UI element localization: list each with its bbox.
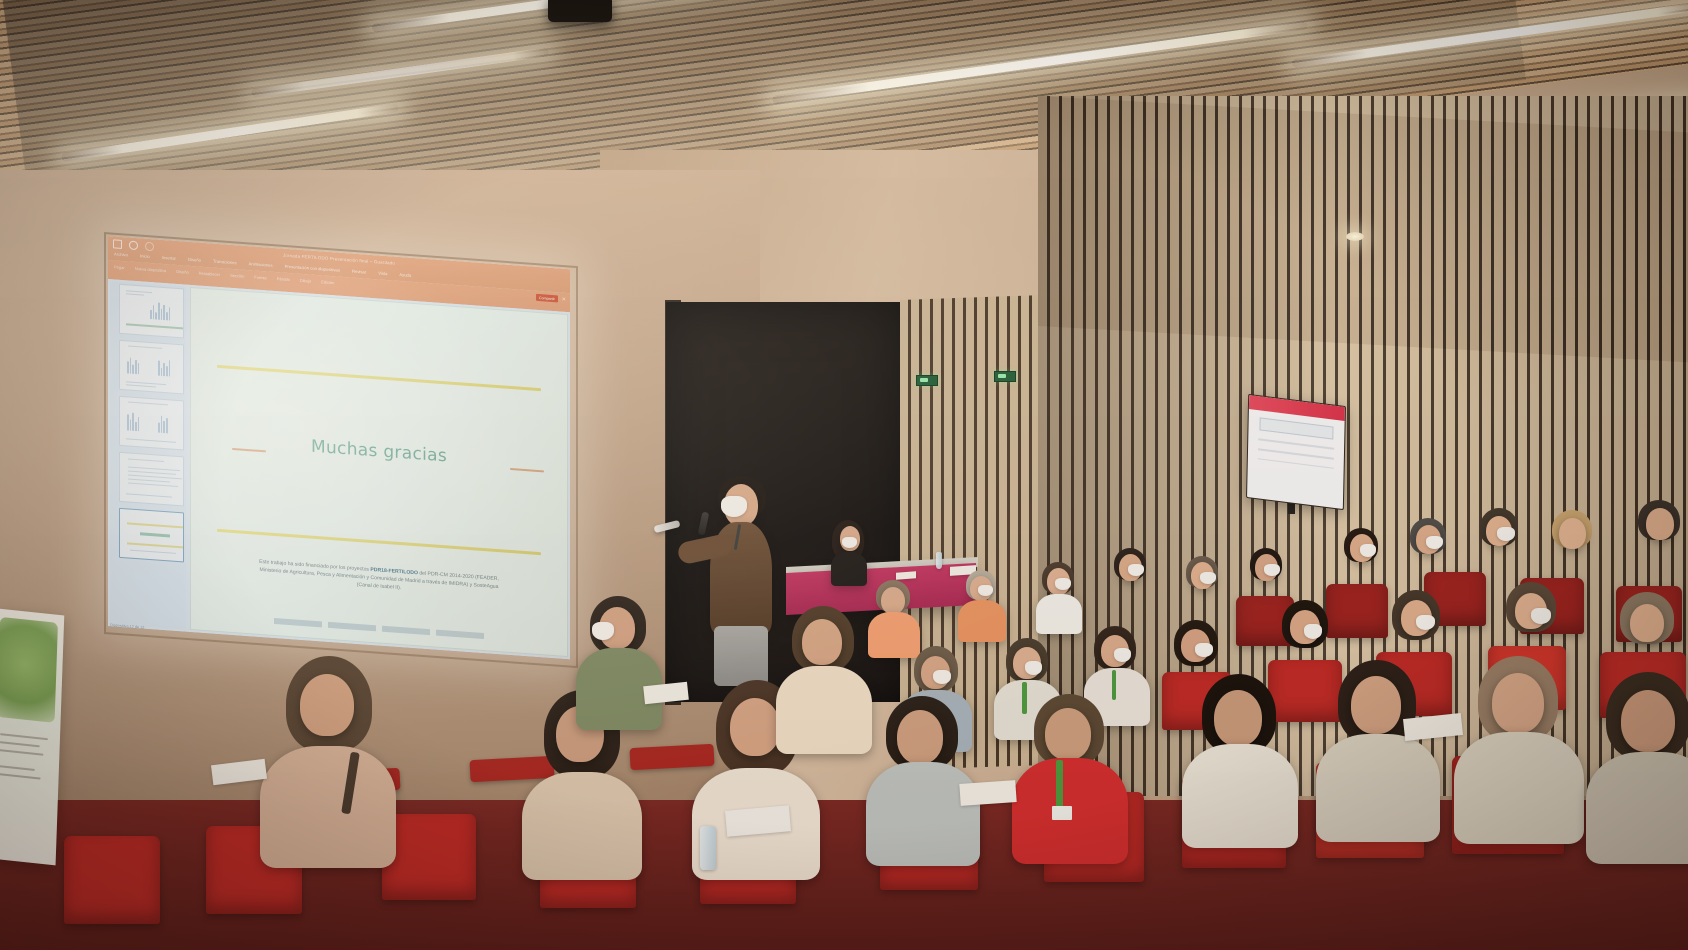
slide-logo-row [274,618,485,640]
torso [260,746,396,868]
torso [1454,732,1584,844]
tab-archivo[interactable]: Archivo [114,251,128,257]
tab-presentacion[interactable]: Presentación con diapositivas [285,264,340,273]
banner-text-line [0,749,43,756]
face-mask [1055,578,1071,590]
face-mask [592,622,614,640]
slide-heading: Muchas gracias [191,428,567,475]
face-mask [1426,536,1443,549]
face-mask [933,670,951,684]
banner-text-line [0,773,41,780]
seat-armrest [629,744,714,770]
tab-diseno[interactable]: Diseño [188,257,201,263]
slide-bottom-rule [217,529,540,556]
torso [868,612,920,658]
close-icon[interactable]: ✕ [562,296,566,302]
emergency-exit-sign-2 [994,371,1016,382]
torso [1316,734,1440,842]
ribbon-group-seccion[interactable]: Sección [230,273,244,279]
slide-top-rule [217,365,540,392]
logo-3 [382,626,430,635]
tab-inicio[interactable]: Inicio [140,253,150,259]
conference-hall-photo: Jornada FERTILODO Presentación final – G… [0,0,1688,950]
face-mask [1025,661,1042,675]
conference-lanyard [1022,682,1027,714]
moderator-mask [842,537,857,548]
ribbon-group-edicion[interactable]: Edición [321,279,334,285]
speaker-jeans [714,626,768,686]
face-mask [1304,624,1322,639]
event-banner [0,609,64,866]
face-mask [1200,572,1216,584]
face-mask [1128,564,1144,576]
head [730,698,780,756]
speaker-mask [721,496,747,517]
slide-thumbnail[interactable]: 11 [119,452,184,507]
slide-thumbnail-pane[interactable]: 8 9 [110,281,186,629]
ribbon-group-parrafo[interactable]: Párrafo [277,276,290,282]
tab-insertar[interactable]: Insertar [162,255,176,261]
wall-monitor[interactable] [1246,394,1346,510]
head [1214,690,1262,746]
logo-1 [274,618,322,627]
ribbon-group-diseno[interactable]: Diseño [176,269,188,275]
seat [1268,660,1342,722]
conference-lanyard [1112,670,1116,700]
water-bottle [936,552,942,569]
share-button[interactable]: Compartir [536,294,558,303]
torso [1182,744,1298,848]
handout-paper [959,780,1016,806]
water-bottle [700,826,716,870]
banner-artwork [0,617,58,723]
ceiling-projector [548,0,612,22]
face-mask [978,585,993,596]
seat [64,836,160,924]
slide-thumbnail-active[interactable]: 12 [119,508,184,563]
logo-4 [436,630,484,639]
monitor-field-1 [1259,417,1333,439]
torso [776,666,872,754]
stage-dark-panel [666,302,901,702]
seat [1326,584,1388,638]
projection-screen: Jornada FERTILODO Presentación final – G… [108,236,570,659]
head [881,587,905,614]
head [1492,673,1544,733]
powerpoint-workspace: 8 9 [108,279,570,659]
head [1351,676,1401,734]
face-mask [1497,527,1515,541]
ribbon-group-dibujo[interactable]: Dibujo [300,278,311,284]
moderator-torso [831,552,867,586]
ribbon-group-restablecer[interactable]: Restablecer [199,271,220,278]
active-slide-canvas[interactable]: Muchas gracias Este trabajo ha sido fina… [190,287,568,657]
seat [382,814,476,900]
monitor-row-3 [1258,458,1334,469]
conference-badge [1052,806,1072,820]
face-mask [1264,564,1280,576]
torso [522,772,642,880]
head [1630,604,1664,642]
slide-funding-footer: Este trabajo ha sido financiado por los … [199,554,560,604]
slide-thumbnail[interactable]: 10 [119,396,184,451]
face-mask [1416,615,1435,630]
head [300,674,354,736]
torso [958,600,1006,642]
logo-2 [328,622,376,631]
slide-thumbnail[interactable]: 9 [119,340,184,395]
head [1621,690,1675,752]
head [1045,708,1091,760]
face-mask [1195,643,1213,657]
head [802,619,842,665]
wall-downlight [1346,232,1364,241]
ribbon-group-pegar[interactable]: Pegar [114,264,125,270]
face-mask [1531,608,1551,624]
conference-lanyard [1056,760,1063,808]
banner-text-line [0,733,48,740]
banner-text-line [0,765,35,771]
face-mask [1360,544,1376,557]
tab-revisar[interactable]: Revisar [352,269,366,275]
torso [1036,594,1082,634]
ribbon-group-fuente[interactable]: Fuente [254,275,266,281]
head [1559,518,1586,549]
seat-armrest [469,756,554,782]
tab-ayuda[interactable]: Ayuda [399,272,411,278]
ribbon-right-controls[interactable]: Compartir ✕ [536,294,566,303]
torso [866,762,980,866]
monitor-row-2 [1258,448,1334,459]
face-mask [1114,648,1131,662]
tab-vista[interactable]: Vista [378,270,387,276]
monitor-row-1 [1258,438,1334,449]
head [1646,508,1674,540]
handout-paper [725,805,791,836]
emergency-exit-sign-1 [916,375,938,386]
tab-transiciones[interactable]: Transiciones [213,259,237,266]
torso [1586,752,1688,864]
tab-animaciones[interactable]: Animaciones [249,261,273,268]
slide-thumbnail[interactable]: 8 [119,284,184,339]
ribbon-group-nueva-diapositiva[interactable]: Nueva diapositiva [135,266,167,273]
table-papers-2 [896,571,916,579]
banner-text-line [0,741,40,748]
head [897,710,943,764]
